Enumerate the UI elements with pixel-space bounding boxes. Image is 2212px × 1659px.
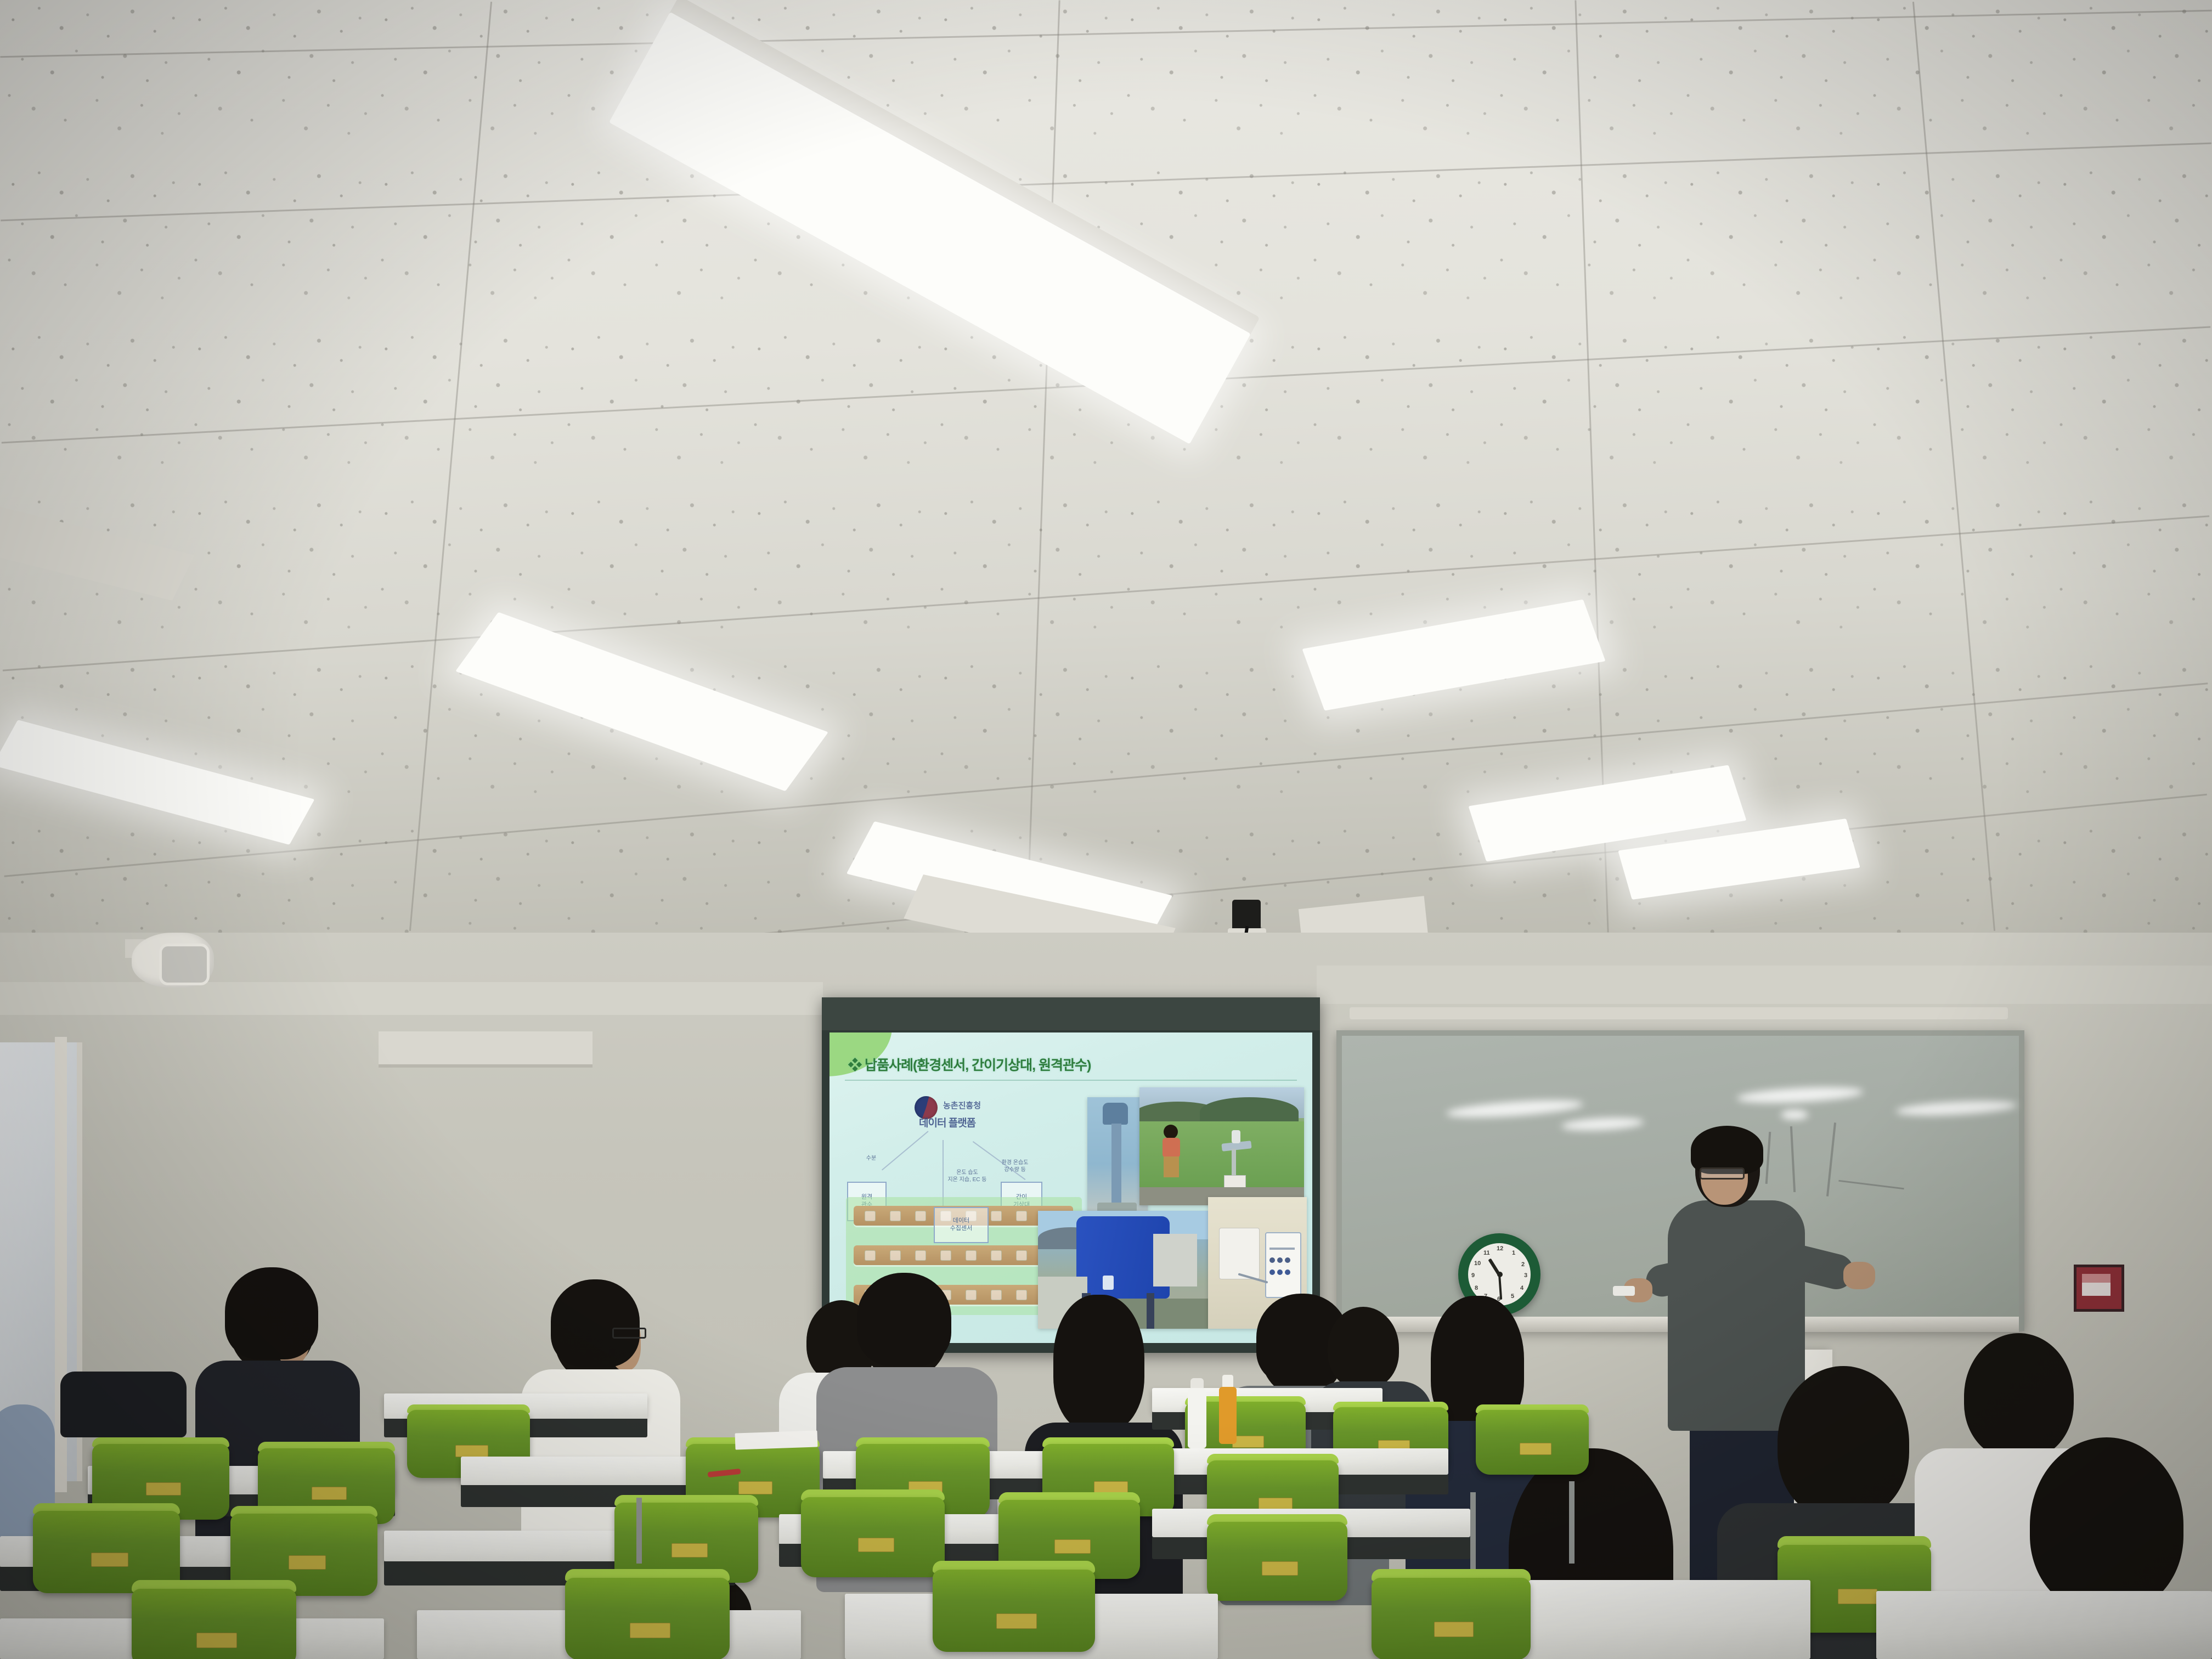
- rda-logo: 농촌진흥청 데이터 플랫폼: [915, 1094, 1024, 1132]
- speaker-grille-icon: [159, 944, 210, 985]
- slide-title: ❖ 납품사례(환경센서, 간이기상대, 원격관수): [848, 1054, 1232, 1074]
- wall-trim-right: [1317, 966, 2212, 1004]
- diagram-callout-left: 수분: [857, 1155, 885, 1163]
- presenter-hair: [1691, 1126, 1763, 1174]
- lecture-hall-photo: 12 1 2 3 4 5 6 7 8 9 10 11 ❖ 납품사례(환경센서, …: [0, 0, 2212, 1659]
- ceiling: [0, 0, 2212, 982]
- logo-line-2: 데이터 플랫폼: [919, 1115, 975, 1130]
- diagram-callout-right: 환경 온습도 강수량 등: [994, 1160, 1036, 1173]
- backpack: [60, 1372, 187, 1437]
- desk: [1503, 1580, 1810, 1659]
- whiteboard-faint-mark: [1826, 1122, 1836, 1197]
- whiteboard-faint-mark: [1765, 1132, 1771, 1184]
- presenter-right-hand: [1843, 1262, 1875, 1289]
- whiteboard-top-rail: [1350, 1007, 2008, 1019]
- desk-leg: [1569, 1481, 1575, 1564]
- diagram-connector-left: [882, 1131, 929, 1170]
- whiteboard-glare: [1781, 1110, 1808, 1120]
- window-blind-valance: [379, 1031, 592, 1068]
- whiteboard-faint-mark: [1838, 1180, 1904, 1190]
- clock-numeral: 5: [1511, 1293, 1514, 1300]
- clock-numeral: 3: [1524, 1272, 1527, 1279]
- wall-trim: [0, 982, 823, 1015]
- white-thermos: [1188, 1388, 1206, 1448]
- fire-safety-sign: [2074, 1265, 2124, 1312]
- clock-numeral: 12: [1497, 1245, 1503, 1252]
- diagram-callout-center: 온도 습도 지온 지습, EC 등: [937, 1170, 997, 1183]
- clock-numeral: 1: [1512, 1250, 1515, 1256]
- whiteboard-faint-mark: [1790, 1126, 1796, 1192]
- orange-juice-bottle: [1219, 1387, 1237, 1444]
- slide-title-rule: [845, 1080, 1297, 1081]
- clock-numeral: 10: [1474, 1260, 1481, 1267]
- clock-numeral: 8: [1475, 1285, 1478, 1291]
- paper-stack: [735, 1430, 818, 1449]
- whiteboard-glare: [1446, 1097, 1583, 1120]
- clock-numeral: 9: [1471, 1272, 1475, 1279]
- diagram-box-center-sensor: 데이터 수집센서: [934, 1207, 989, 1243]
- clock-numeral: 2: [1521, 1261, 1525, 1268]
- whiteboard-glare: [1896, 1098, 2017, 1118]
- whiteboard-glare: [1736, 1085, 1863, 1105]
- glasses-icon: [612, 1328, 646, 1339]
- clock-center-pin: [1497, 1272, 1503, 1277]
- logo-line-1: 농촌진흥청: [943, 1099, 981, 1111]
- clock-numeral: 4: [1520, 1285, 1523, 1291]
- presentation-remote: [1613, 1286, 1635, 1296]
- desk: [1876, 1591, 2212, 1659]
- photo-field-weather-station: [1139, 1087, 1304, 1205]
- presenter-shirt: [1668, 1200, 1805, 1431]
- desk-leg: [636, 1498, 642, 1564]
- clock-numeral: 11: [1483, 1250, 1490, 1256]
- screen-top-border: [822, 997, 1320, 1030]
- whiteboard-glare: [1561, 1116, 1644, 1132]
- glasses-icon: [1700, 1167, 1745, 1180]
- desk-leg: [1470, 1492, 1476, 1569]
- down-arrow-icon: [2082, 1274, 2111, 1296]
